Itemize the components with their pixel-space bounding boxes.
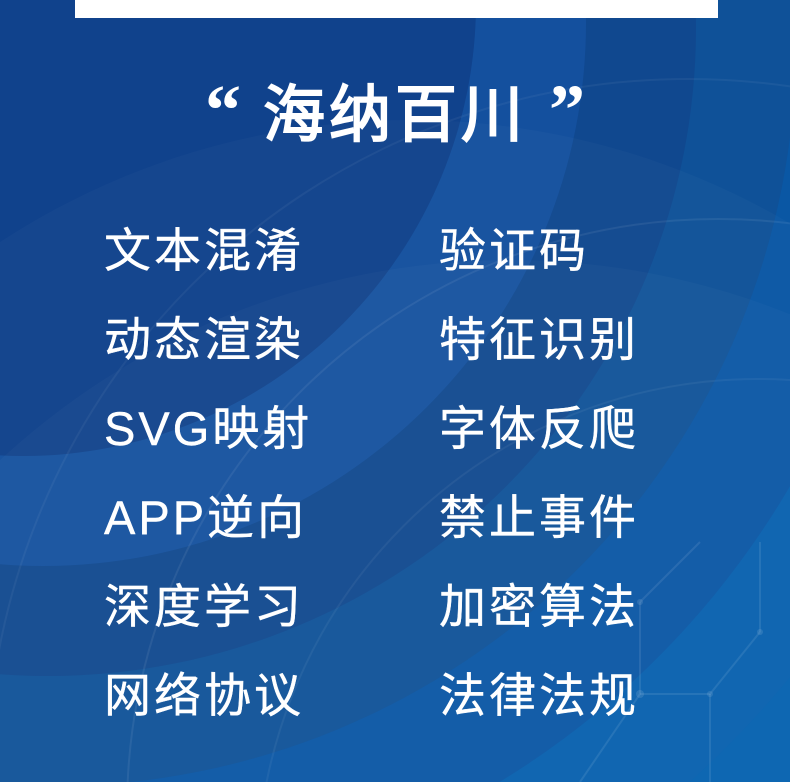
keyword-left-4: APP逆向 [104, 494, 439, 541]
quote-open-icon: “ [205, 74, 241, 146]
keyword-right-3: 字体反爬 [439, 405, 704, 452]
keyword-left-3: SVG映射 [104, 405, 439, 452]
keyword-right-2: 特征识别 [439, 316, 704, 363]
keyword-grid: 文本混淆 验证码 动态渲染 特征识别 SVG映射 字体反爬 APP逆向 禁止事件… [104, 206, 704, 740]
top-white-bar [75, 0, 718, 18]
keyword-left-6: 网络协议 [104, 672, 439, 719]
keyword-left-5: 深度学习 [104, 583, 439, 630]
keyword-right-4: 禁止事件 [439, 494, 704, 541]
keyword-left-2: 动态渲染 [104, 316, 439, 363]
keyword-right-1: 验证码 [439, 227, 704, 274]
poster-canvas: “ 海纳百川 ” 文本混淆 验证码 动态渲染 特征识别 SVG映射 字体反爬 A… [0, 0, 790, 782]
keyword-right-6: 法律法规 [439, 672, 704, 719]
keyword-right-5: 加密算法 [439, 583, 704, 630]
keyword-left-1: 文本混淆 [104, 227, 439, 274]
quote-close-icon: ” [549, 74, 585, 146]
headline-row: “ 海纳百川 ” [0, 66, 790, 166]
page-title: 海纳百川 [263, 85, 527, 147]
